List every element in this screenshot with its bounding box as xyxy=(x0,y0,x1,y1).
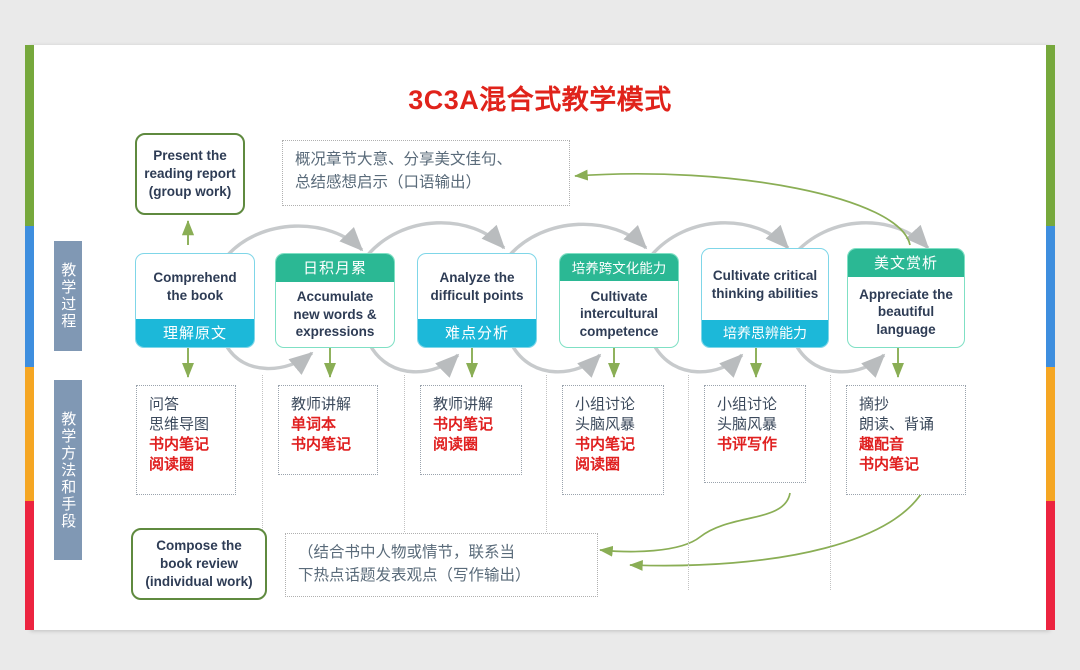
eng-line-2: difficult points xyxy=(431,287,524,305)
process-box-analyze[interactable]: Analyze the difficult points 难点分析 xyxy=(417,253,537,348)
eng-line-3: competence xyxy=(580,323,659,341)
method-red-line: 书评写作 xyxy=(717,434,795,454)
caption-written-output: （结合书中人物或情节，联系当 下热点话题发表观点（写作输出） xyxy=(285,533,598,597)
green-bar xyxy=(25,45,34,226)
column-separator-5 xyxy=(830,375,831,590)
method-red-line: 书内笔记 xyxy=(575,434,653,454)
method-box-4[interactable]: 小组讨论 头脑风暴 书内笔记 阅读圈 xyxy=(562,385,664,495)
output-box-present-reading-report[interactable]: Present the reading report (group work) xyxy=(135,133,245,215)
page-title: 3C3A混合式教学模式 xyxy=(30,78,1050,117)
process-band-accumulate: 日积月累 xyxy=(276,254,394,282)
caption-bottom-line-2: 下热点话题发表观点（写作输出） xyxy=(298,564,587,587)
method-dark-line: 头脑风暴 xyxy=(575,414,653,434)
method-dark-line: 摘抄 xyxy=(859,394,955,414)
output-line-1: Present the xyxy=(153,147,227,165)
process-band-appreciate: 美文赏析 xyxy=(848,249,964,277)
method-red-line: 趣配音 xyxy=(859,434,955,454)
process-box-accumulate[interactable]: 日积月累 Accumulate new words & expressions xyxy=(275,253,395,348)
eng-line-2: beautiful xyxy=(859,303,953,321)
process-band-intercultural: 培养跨文化能力 xyxy=(560,254,678,281)
process-band-critical: 培养思辨能力 xyxy=(702,320,828,347)
process-eng-comprehend: Comprehend the book xyxy=(136,254,254,319)
eng-line-1: Accumulate xyxy=(293,288,376,306)
slide-surface: 3C3A混合式教学模式 教学过程 教学方法和手段 Present the rea… xyxy=(30,45,1050,630)
method-red-line: 阅读圈 xyxy=(433,434,511,454)
process-eng-intercultural: Cultivate intercultural competence xyxy=(560,281,678,347)
eng-line-3: language xyxy=(859,321,953,339)
eng-line-2: intercultural xyxy=(580,305,659,323)
method-dark-line: 小组讨论 xyxy=(575,394,653,414)
process-band-analyze: 难点分析 xyxy=(418,319,536,347)
eng-line-1: Cultivate critical xyxy=(712,267,819,285)
output-line-2: reading report xyxy=(144,165,236,183)
process-box-critical-thinking[interactable]: Cultivate critical thinking abilities 培养… xyxy=(701,248,829,348)
process-band-comprehend: 理解原文 xyxy=(136,319,254,347)
output-box-compose-book-review[interactable]: Compose the book review (individual work… xyxy=(131,528,267,600)
method-red-line: 单词本 xyxy=(291,414,367,434)
caption-top-line-1: 概况章节大意、分享美文佳句、 xyxy=(295,148,559,171)
method-red-line: 阅读圈 xyxy=(575,454,653,474)
eng-line-3: expressions xyxy=(293,323,376,341)
left-color-bars xyxy=(25,45,34,630)
method-dark-line: 思维导图 xyxy=(149,414,225,434)
caption-oral-output: 概况章节大意、分享美文佳句、 总结感想启示（口语输出） xyxy=(282,140,570,206)
eng-line-1: Comprehend xyxy=(153,269,236,287)
caption-top-line-2: 总结感想启示（口语输出） xyxy=(295,171,559,194)
method-dark-line: 教师讲解 xyxy=(291,394,367,414)
green-bar xyxy=(1046,45,1055,226)
method-red-line: 阅读圈 xyxy=(149,454,225,474)
method-dark-line: 问答 xyxy=(149,394,225,414)
process-box-comprehend[interactable]: Comprehend the book 理解原文 xyxy=(135,253,255,348)
process-eng-appreciate: Appreciate the beautiful language xyxy=(848,277,964,347)
method-dark-line: 教师讲解 xyxy=(433,394,511,414)
slide-canvas: 3C3A混合式教学模式 教学过程 教学方法和手段 Present the rea… xyxy=(0,0,1080,670)
method-box-5[interactable]: 小组讨论 头脑风暴 书评写作 xyxy=(704,385,806,483)
method-box-6[interactable]: 摘抄 朗读、背诵 趣配音 书内笔记 xyxy=(846,385,966,495)
output-line-1: Compose the xyxy=(156,537,242,555)
eng-line-2: thinking abilities xyxy=(712,285,819,303)
eng-line-1: Appreciate the xyxy=(859,286,953,304)
process-box-intercultural[interactable]: 培养跨文化能力 Cultivate intercultural competen… xyxy=(559,253,679,348)
process-box-appreciate[interactable]: 美文赏析 Appreciate the beautiful language xyxy=(847,248,965,348)
blue-bar xyxy=(1046,226,1055,366)
eng-line-2: new words & xyxy=(293,306,376,324)
eng-line-2: the book xyxy=(153,287,236,305)
caption-bottom-line-1: （结合书中人物或情节，联系当 xyxy=(298,541,587,564)
method-red-line: 书内笔记 xyxy=(149,434,225,454)
blue-bar xyxy=(25,226,34,366)
sidebar-label-process: 教学过程 xyxy=(54,241,82,351)
method-dark-line: 头脑风暴 xyxy=(717,414,795,434)
process-eng-accumulate: Accumulate new words & expressions xyxy=(276,282,394,347)
output-line-3: (individual work) xyxy=(145,573,252,591)
process-eng-analyze: Analyze the difficult points xyxy=(418,254,536,319)
output-line-2: book review xyxy=(160,555,238,573)
method-red-line: 书内笔记 xyxy=(291,434,367,454)
output-line-3: (group work) xyxy=(149,183,232,201)
method-dark-line: 朗读、背诵 xyxy=(859,414,955,434)
red-bar xyxy=(25,501,34,630)
method-box-2[interactable]: 教师讲解 单词本 书内笔记 xyxy=(278,385,378,475)
process-eng-critical: Cultivate critical thinking abilities xyxy=(702,249,828,320)
orange-bar xyxy=(1046,367,1055,502)
right-color-bars xyxy=(1046,45,1055,630)
method-red-line: 书内笔记 xyxy=(433,414,511,434)
method-box-3[interactable]: 教师讲解 书内笔记 阅读圈 xyxy=(420,385,522,475)
eng-line-1: Cultivate xyxy=(580,288,659,306)
column-separator-4 xyxy=(688,375,689,590)
sidebar-label-methods: 教学方法和手段 xyxy=(54,380,82,560)
orange-bar xyxy=(25,367,34,502)
method-red-line: 书内笔记 xyxy=(859,454,955,474)
method-dark-line: 小组讨论 xyxy=(717,394,795,414)
eng-line-1: Analyze the xyxy=(431,269,524,287)
red-bar xyxy=(1046,501,1055,630)
method-box-1[interactable]: 问答 思维导图 书内笔记 阅读圈 xyxy=(136,385,236,495)
